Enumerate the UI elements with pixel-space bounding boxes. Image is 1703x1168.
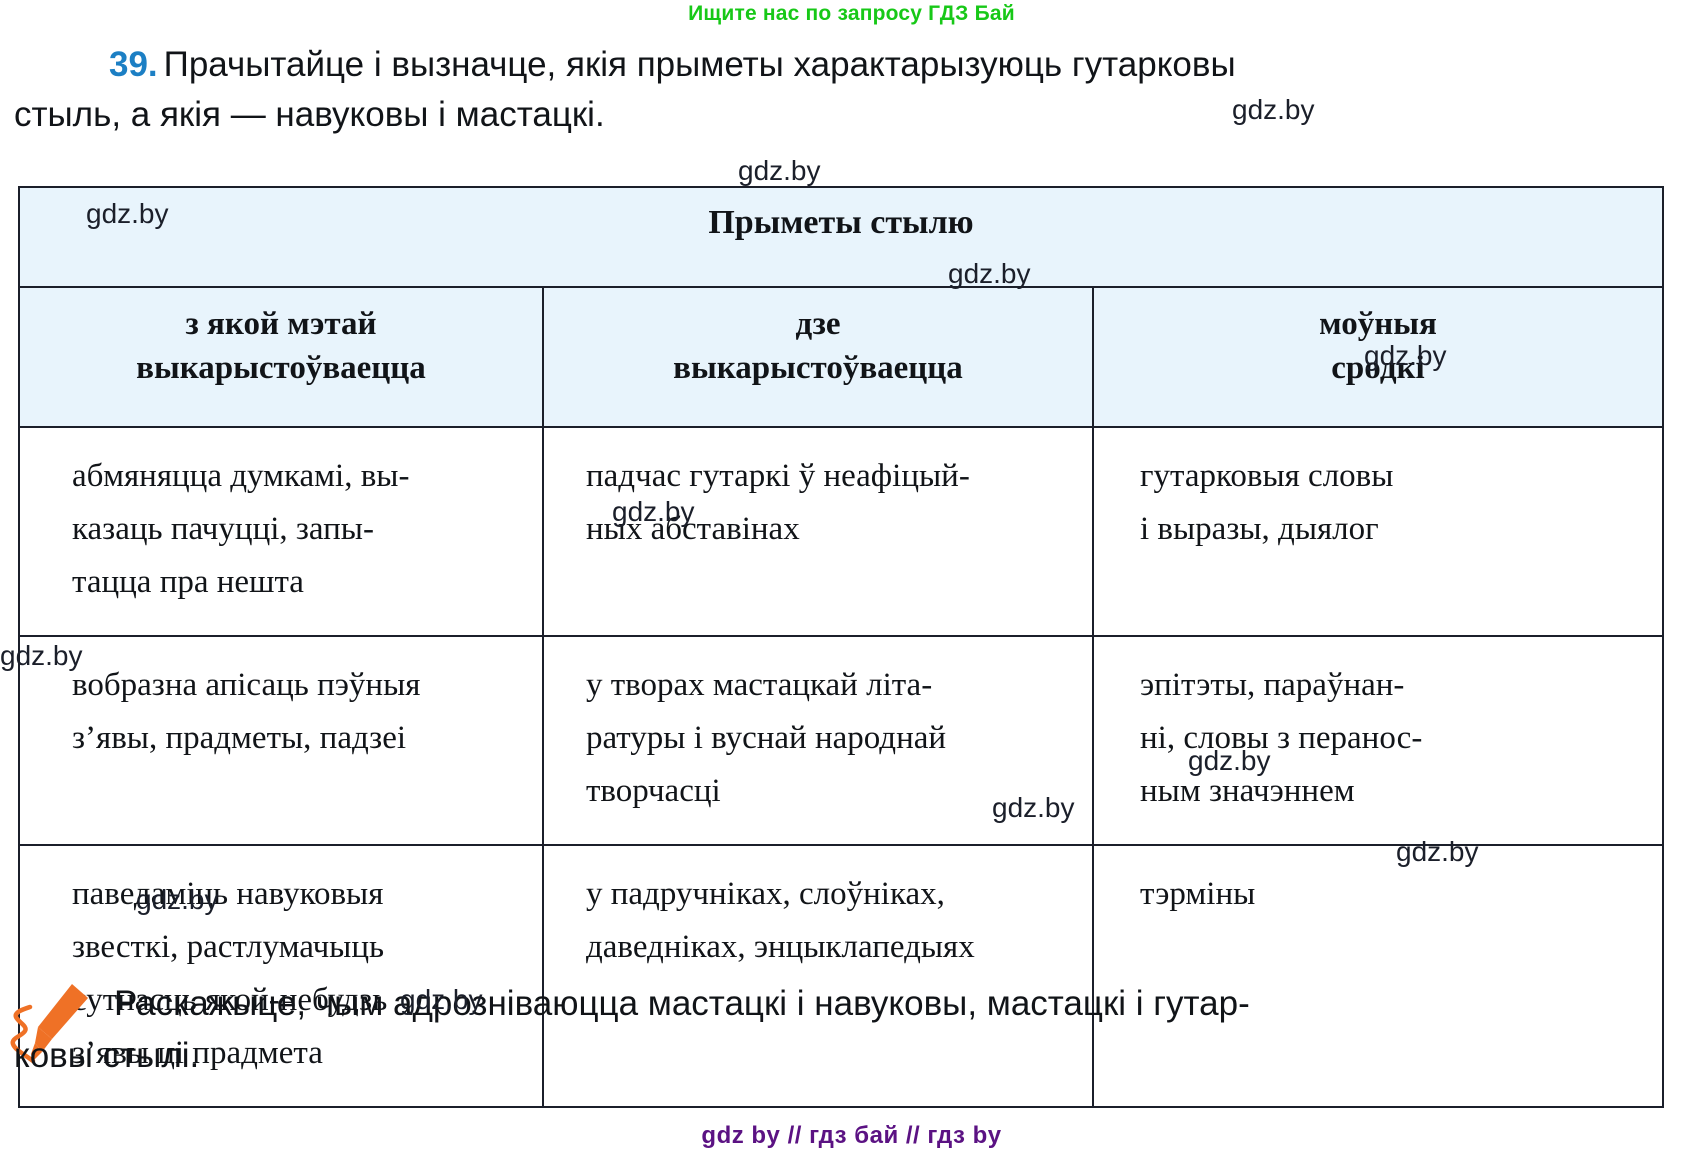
- row-2-purpose-line-2: з’явы, прадметы, падзеі: [34, 712, 528, 765]
- row-2-where-line-1: у творах мастацкай літа-: [558, 659, 1078, 712]
- row-1-where-line-2: ных абставінах: [558, 503, 1078, 556]
- row-2-language-means-cell: эпітэты, параўнан- ні, словы з перанос- …: [1093, 636, 1663, 845]
- column-header-purpose-line-2: выкарыстоўваецца: [20, 346, 542, 390]
- column-header-where-line-2: выкарыстоўваецца: [544, 346, 1092, 390]
- row-2-where-line-3: творчасці: [558, 765, 1078, 818]
- row-1-purpose-line-3: тацца пра нешта: [34, 556, 528, 609]
- row-1-language-means-line-2: і выразы, дыялог: [1108, 503, 1648, 556]
- row-2-language-means-line-2: ні, словы з перанос-: [1108, 712, 1648, 765]
- row-1-where-line-1: падчас гутаркі ў неафіцый-: [558, 450, 1078, 503]
- table-header-row: з якой мэтай выкарыстоўваецца дзе выкары…: [19, 287, 1663, 427]
- followup-task: Раскажыце, чым адрозніваюцца мастацкі і …: [14, 978, 1690, 1082]
- row-1-language-means-cell: гутарковыя словы і выразы, дыялог: [1093, 427, 1663, 636]
- table-row: вобразна апісаць пэўныя з’явы, прадметы,…: [19, 636, 1663, 845]
- row-1-purpose-line-2: казаць пачуцці, запы-: [34, 503, 528, 556]
- row-2-purpose-line-1: вобразна апісаць пэўныя: [34, 659, 528, 712]
- exercise-prompt-line-2: стыль, а якія — навуковы і мастацкі.: [14, 90, 1690, 140]
- row-2-purpose-cell: вобразна апісаць пэўныя з’явы, прадметы,…: [19, 636, 543, 845]
- row-1-language-means-line-1: гутарковыя словы: [1108, 450, 1648, 503]
- style-features-table: Прыметы стылю з якой мэтай выкарыстоўвае…: [18, 186, 1664, 1108]
- row-3-where-line-2: даведніках, энцыклапедыях: [558, 921, 1078, 974]
- column-header-language-means-line-1: моўныя: [1094, 302, 1662, 346]
- row-1-purpose-cell: абмяняцца думкамі, вы- казаць пачуцці, з…: [19, 427, 543, 636]
- column-header-language-means: моўныя сродкі: [1093, 287, 1663, 427]
- table-title-cell: Прыметы стылю: [19, 187, 1663, 287]
- row-2-where-line-2: ратуры і вуснай народнай: [558, 712, 1078, 765]
- column-header-where: дзе выкарыстоўваецца: [543, 287, 1093, 427]
- followup-task-line-1: Раскажыце, чым адрозніваюцца мастацкі і …: [14, 978, 1690, 1030]
- table-row: абмяняцца думкамі, вы- казаць пачуцці, з…: [19, 427, 1663, 636]
- followup-task-line-2: ковы стылі.: [14, 1030, 1690, 1082]
- promo-banner: Ищите нас по запросу ГДЗ Бай: [0, 0, 1703, 28]
- row-3-purpose-line-2: звесткі, растлумачыць: [34, 921, 528, 974]
- row-1-purpose-line-1: абмяняцца думкамі, вы-: [34, 450, 528, 503]
- column-header-purpose: з якой мэтай выкарыстоўваецца: [19, 287, 543, 427]
- row-2-language-means-line-1: эпітэты, параўнан-: [1108, 659, 1648, 712]
- exercise-prompt-line-1: Прачытайце і вызначце, якія прыметы хара…: [164, 45, 1236, 84]
- exercise-prompt: 39.Прачытайце і вызначце, якія прыметы х…: [14, 40, 1690, 140]
- column-header-language-means-line-2: сродкі: [1094, 346, 1662, 390]
- row-3-purpose-line-1: паведаміць навуковыя: [34, 868, 528, 921]
- row-3-language-means-line-1: тэрміны: [1108, 868, 1648, 921]
- row-3-where-line-1: у падручніках, слоўніках,: [558, 868, 1078, 921]
- exercise-number: 39.: [14, 45, 164, 84]
- watermark: gdz.by: [738, 155, 821, 187]
- row-2-where-cell: у творах мастацкай літа- ратуры і вуснай…: [543, 636, 1093, 845]
- column-header-purpose-line-1: з якой мэтай: [20, 302, 542, 346]
- row-2-language-means-line-3: ным значэннем: [1108, 765, 1648, 818]
- row-1-where-cell: падчас гутаркі ў неафіцый- ных абставіна…: [543, 427, 1093, 636]
- column-header-where-line-1: дзе: [544, 302, 1092, 346]
- page-footer: gdz by // гдз бай // гдз by: [0, 1122, 1703, 1150]
- table-header-title-row: Прыметы стылю: [19, 187, 1663, 287]
